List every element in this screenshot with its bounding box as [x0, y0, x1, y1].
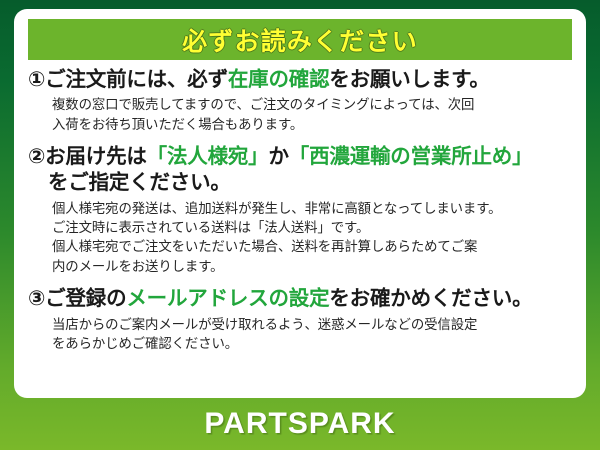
notice-item-1-body-line-0: 複数の窓口で販売してますので、ご注文のタイミングによっては、次回 [52, 95, 574, 114]
notice-item-2-number: ② [28, 145, 45, 168]
notice-item-2-body-line-1: ご注文時に表示されている送料は「法人送料」です。 [52, 218, 574, 237]
notice-item-2: ②お届け先は「法人様宛」か「西濃運輸の営業所止め」 をご指定ください。 個人様宅… [26, 144, 574, 276]
notice-banner: 必ずお読みください ①ご注文前には、必ず在庫の確認をお願いします。 複数の窓口で… [0, 0, 600, 450]
notice-item-1-heading: ①ご注文前には、必ず在庫の確認をお願いします。 [26, 67, 574, 93]
notice-item-3-heading-part-0: ご登録の [45, 287, 126, 310]
notice-item-3-number: ③ [28, 287, 45, 310]
footer: PARTSPARK [0, 398, 600, 450]
notice-item-1-heading-part-1: 在庫の確認 [228, 68, 330, 91]
notice-item-2-body-line-2: 個人様宅宛でご注文をいただいた場合、送料を再計算しあらためてご案 [52, 237, 574, 256]
brand-logo: PARTSPARK [204, 407, 395, 441]
notice-item-2-body: 個人様宅宛の発送は、追加送料が発生し、非常に高額となってしまいます。ご注文時に表… [26, 199, 574, 277]
notice-item-1-heading-part-2: をお願いします。 [329, 68, 489, 91]
notice-item-2-body-line-3: 内のメールをお送りします。 [52, 257, 574, 276]
notice-item-2-heading: ②お届け先は「法人様宛」か「西濃運輸の営業所止め」 [26, 144, 574, 170]
notice-item-2-heading-part-2: か [268, 145, 288, 168]
page-title: 必ずお読みください [182, 22, 418, 58]
notice-item-3: ③ご登録のメールアドレスの設定をお確かめください。 当店からのご案内メールが受け… [26, 286, 574, 353]
notice-item-1-body: 複数の窓口で販売してますので、ご注文のタイミングによっては、次回入荷をお待ち頂い… [26, 95, 574, 134]
notice-item-1: ①ご注文前には、必ず在庫の確認をお願いします。 複数の窓口で販売してますので、ご… [26, 67, 574, 134]
header-bar: 必ずお読みください [28, 19, 572, 60]
notice-item-3-body-line-1: をあらかじめご確認ください。 [52, 334, 574, 353]
notice-item-1-heading-part-0: ご注文前には、必ず [45, 68, 228, 91]
notice-item-3-body: 当店からのご案内メールが受け取れるよう、迷惑メールなどの受信設定をあらかじめご確… [26, 315, 574, 354]
notice-item-3-body-line-0: 当店からのご案内メールが受け取れるよう、迷惑メールなどの受信設定 [52, 315, 574, 334]
notice-card: 必ずお読みください ①ご注文前には、必ず在庫の確認をお願いします。 複数の窓口で… [14, 9, 586, 398]
notice-item-2-heading-line2: をご指定ください。 [26, 170, 574, 196]
notice-item-3-heading-part-2: をお確かめください。 [329, 287, 532, 310]
notice-item-1-body-line-1: 入荷をお待ち頂いただく場合もあります。 [52, 115, 574, 134]
notice-item-3-heading-part-1: メールアドレスの設定 [126, 287, 329, 310]
notice-item-2-heading-part-0: お届け先は [45, 145, 147, 168]
notice-item-2-body-line-0: 個人様宅宛の発送は、追加送料が発生し、非常に高額となってしまいます。 [52, 199, 574, 218]
notice-item-2-heading-part-3: 「西濃運輸の営業所止め」 [289, 145, 533, 168]
notice-item-1-number: ① [28, 68, 45, 91]
notice-item-2-heading-part-1: 「法人様宛」 [147, 145, 269, 168]
notice-item-3-heading: ③ご登録のメールアドレスの設定をお確かめください。 [26, 286, 574, 312]
